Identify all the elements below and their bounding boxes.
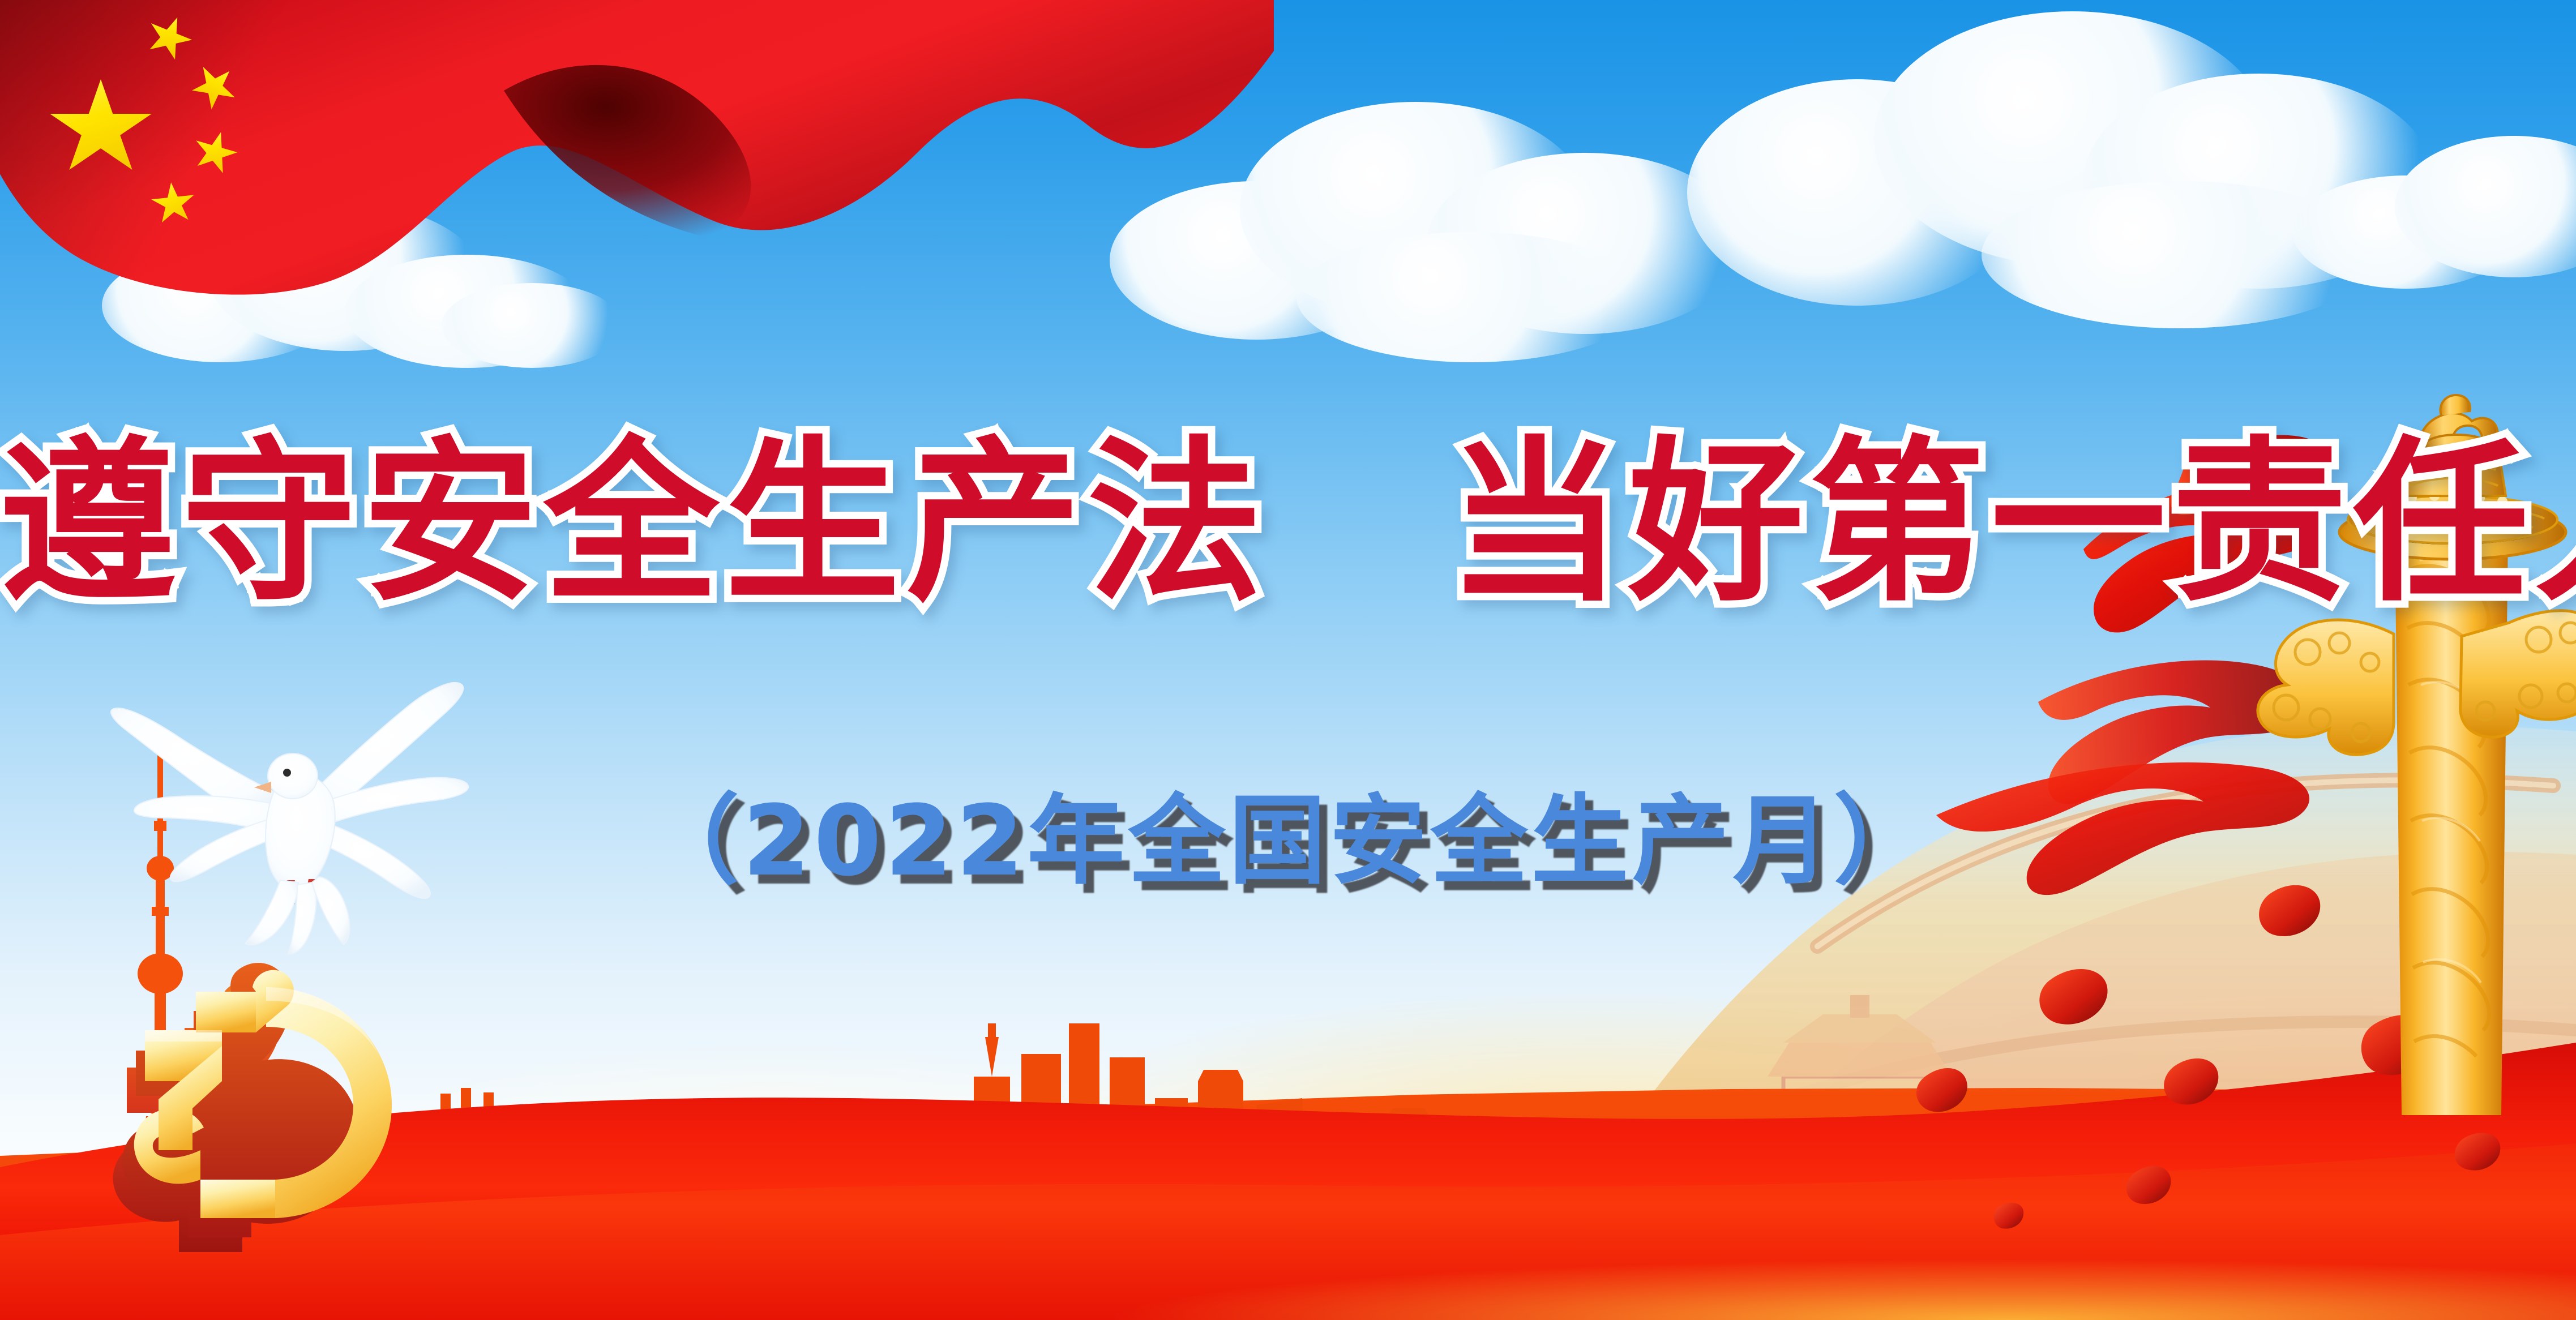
page-title: 遵守安全生产法 当好第一责任人	[0, 436, 2576, 611]
page-subtitle: （2022年全国安全生产月）	[0, 792, 2576, 890]
cpc-emblem	[79, 935, 442, 1252]
china-national-flag	[0, 0, 1274, 300]
headline-part-1: 遵守安全生产法	[0, 421, 1268, 625]
safety-production-month-banner: 遵守安全生产法 当好第一责任人 （2022年全国安全生产月）	[0, 0, 2576, 1320]
headline-part-2: 当好第一责任人	[1447, 421, 2576, 625]
